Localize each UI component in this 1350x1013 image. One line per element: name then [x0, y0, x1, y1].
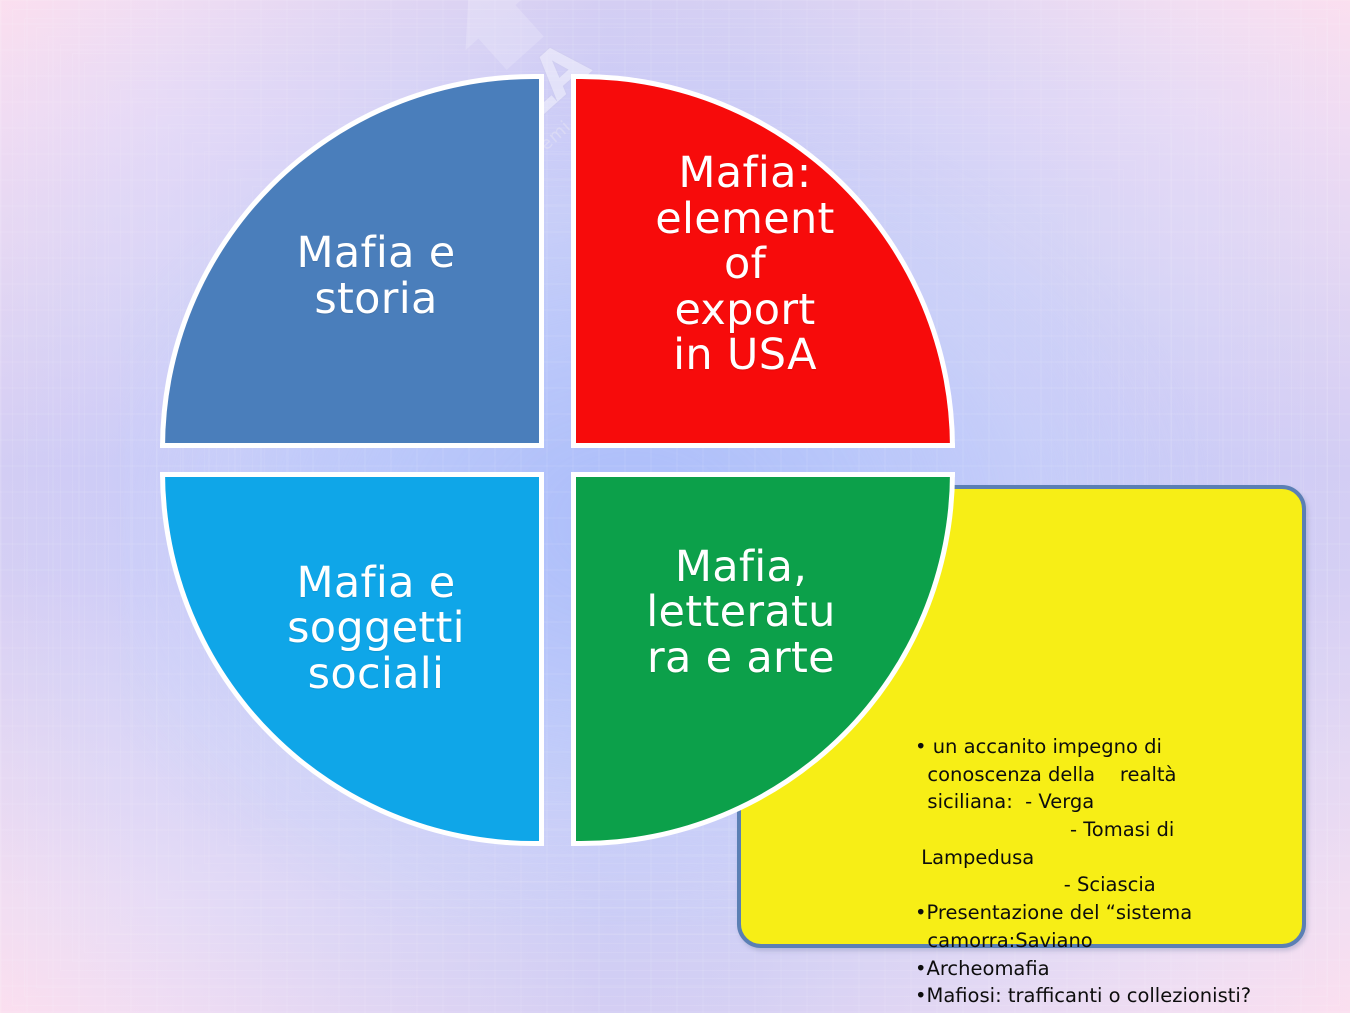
callout-line: Lampedusa — [915, 844, 1345, 872]
callout-line: • un accanito impegno di — [915, 733, 1345, 761]
quadrant-mafia-element-of-export-in-usa[interactable]: Mafia: element of export in USA — [571, 74, 955, 448]
callout-bullet-list: • un accanito impegno di conoscenza dell… — [915, 733, 1345, 1010]
quadrant-mafia-e-soggetti-sociali[interactable]: Mafia e soggetti sociali — [160, 472, 544, 846]
callout-line: camorra:Saviano — [915, 927, 1345, 955]
slide-canvas: SKUOLA appunti & schemi Mafia e storia M… — [0, 0, 1350, 1013]
quadrant-mafia-letteratura-e-arte[interactable]: Mafia, letteratu ra e arte — [571, 472, 955, 846]
callout-line: - Sciascia — [915, 871, 1345, 899]
callout-line: conoscenza della realtà — [915, 761, 1345, 789]
quadrant-label-bottom-left: Mafia e soggetti sociali — [287, 561, 465, 702]
quadrant-mafia-e-storia[interactable]: Mafia e storia — [160, 74, 544, 448]
quadrant-circle-diagram: Mafia e storia Mafia: element of export … — [160, 74, 955, 846]
callout-line: - Tomasi di — [915, 816, 1345, 844]
callout-line: •Presentazione del “sistema — [915, 899, 1345, 927]
quadrant-label-top-right: Mafia: element of export in USA — [655, 151, 834, 383]
quadrant-label-top-left: Mafia e storia — [296, 231, 455, 326]
callout-line: •Mafiosi: trafficanti o collezionisti? — [915, 982, 1345, 1010]
callout-line: •Archeomafia — [915, 955, 1345, 983]
callout-line: siciliana: - Verga — [915, 788, 1345, 816]
quadrant-label-bottom-right: Mafia, letteratu ra e arte — [646, 545, 835, 686]
